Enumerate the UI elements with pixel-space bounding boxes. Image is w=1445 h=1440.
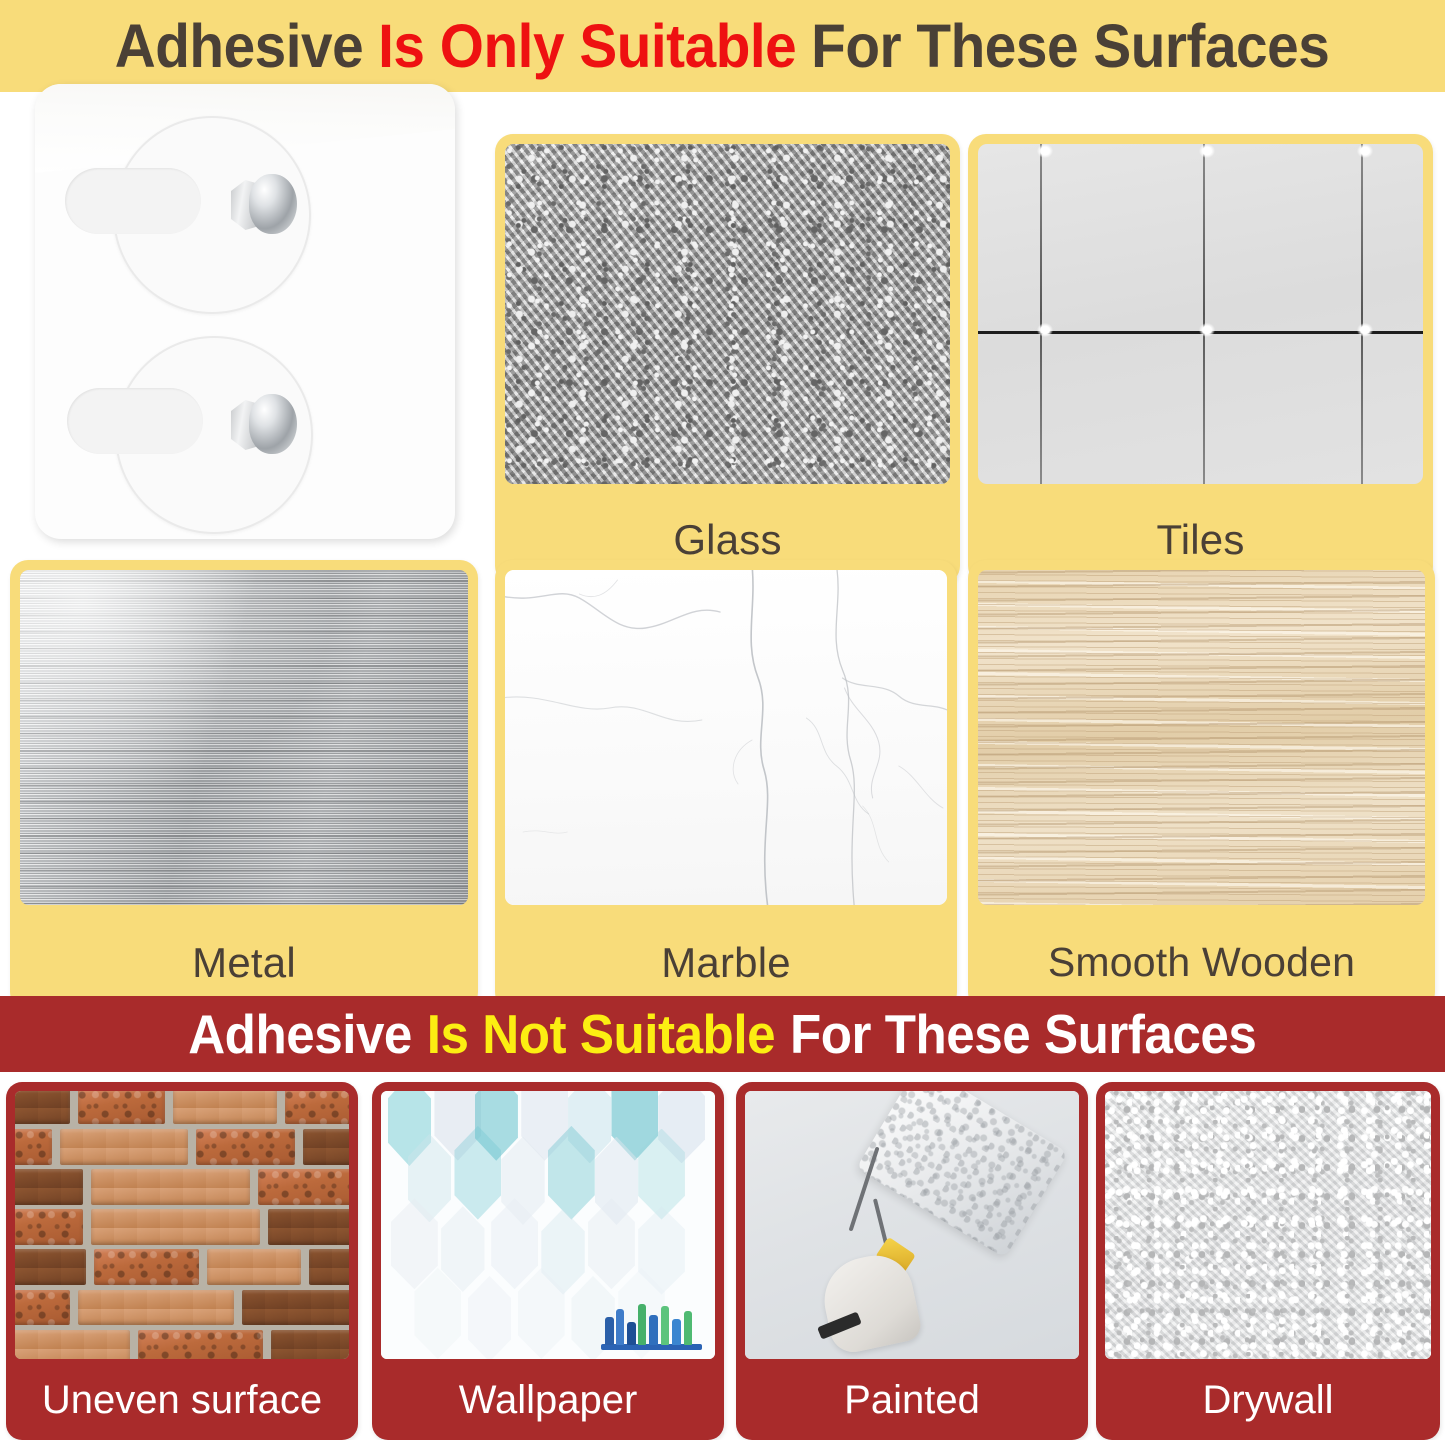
surface-card-glass: Glass: [495, 134, 960, 584]
unsuitable-card-drywall: Drywall: [1096, 1082, 1440, 1440]
chrome-screw-bottom-icon: [231, 392, 297, 458]
not-suitable-banner-text: AdhesiveIs Not SuitableFor These Surface…: [188, 1007, 1256, 1062]
suitable-surfaces-section: Glass Tiles: [0, 92, 1445, 996]
not-suitable-banner-part2: For These Surfaces: [790, 1003, 1256, 1065]
surface-card-smooth-wooden: Smooth Wooden: [968, 560, 1435, 1010]
unsuitable-label-painted: Painted: [736, 1360, 1088, 1440]
paint-roller-texture: [745, 1091, 1079, 1359]
drywall-thumbnail: [1105, 1091, 1431, 1359]
suitable-banner: AdhesiveIs Only SuitableFor These Surfac…: [0, 0, 1445, 92]
unsuitable-label-drywall: Drywall: [1096, 1360, 1440, 1440]
suitable-banner-highlight: Is Only Suitable: [379, 12, 797, 80]
unsuitable-card-painted: Painted: [736, 1082, 1088, 1440]
suitable-banner-text: AdhesiveIs Only SuitableFor These Surfac…: [115, 16, 1330, 77]
brick-wall-texture: [15, 1091, 349, 1359]
wood-grain-texture: [978, 570, 1425, 905]
suitable-banner-part1: Adhesive: [115, 12, 364, 80]
glass-thumbnail: [505, 144, 950, 484]
metal-thumbnail: [20, 570, 468, 905]
keyhole-notch-top: [65, 168, 201, 234]
paint-roller-icon: [856, 1091, 1068, 1258]
wallpaper-thumbnail: [381, 1091, 715, 1359]
keyhole-notch-bottom: [67, 388, 203, 454]
geometric-wallpaper-texture: [381, 1091, 715, 1359]
marble-veins-icon: [505, 570, 947, 905]
product-photo: [35, 84, 455, 539]
frosted-glass-texture: [505, 144, 950, 484]
adhesive-surface-compatibility-infographic: AdhesiveIs Only SuitableFor These Surfac…: [0, 0, 1445, 1440]
chrome-screw-top-icon: [231, 172, 297, 238]
brushed-metal-texture: [20, 570, 468, 905]
surface-card-marble: Marble: [495, 560, 957, 1010]
painted-thumbnail: [745, 1091, 1079, 1359]
drywall-texture: [1105, 1091, 1431, 1359]
wallpaper-bottle-shelf: [601, 1295, 701, 1354]
unsuitable-surfaces-section: Uneven surface: [0, 1072, 1445, 1440]
not-suitable-banner: AdhesiveIs Not SuitableFor These Surface…: [0, 996, 1445, 1072]
marble-thumbnail: [505, 570, 947, 905]
suitable-banner-part2: For These Surfaces: [812, 12, 1330, 80]
wall-tiles-texture: [978, 144, 1423, 484]
not-suitable-banner-highlight: Is Not Suitable: [427, 1003, 775, 1065]
unsuitable-label-uneven-surface: Uneven surface: [6, 1360, 358, 1440]
unsuitable-card-uneven-surface: Uneven surface: [6, 1082, 358, 1440]
wood-thumbnail: [978, 570, 1425, 905]
not-suitable-banner-part1: Adhesive: [188, 1003, 412, 1065]
brick-thumbnail: [15, 1091, 349, 1359]
marble-texture: [505, 570, 947, 905]
surface-card-metal: Metal: [10, 560, 478, 1010]
unsuitable-label-wallpaper: Wallpaper: [372, 1360, 724, 1440]
unsuitable-card-wallpaper: Wallpaper: [372, 1082, 724, 1440]
tiles-thumbnail: [978, 144, 1423, 484]
surface-card-tiles: Tiles: [968, 134, 1433, 584]
